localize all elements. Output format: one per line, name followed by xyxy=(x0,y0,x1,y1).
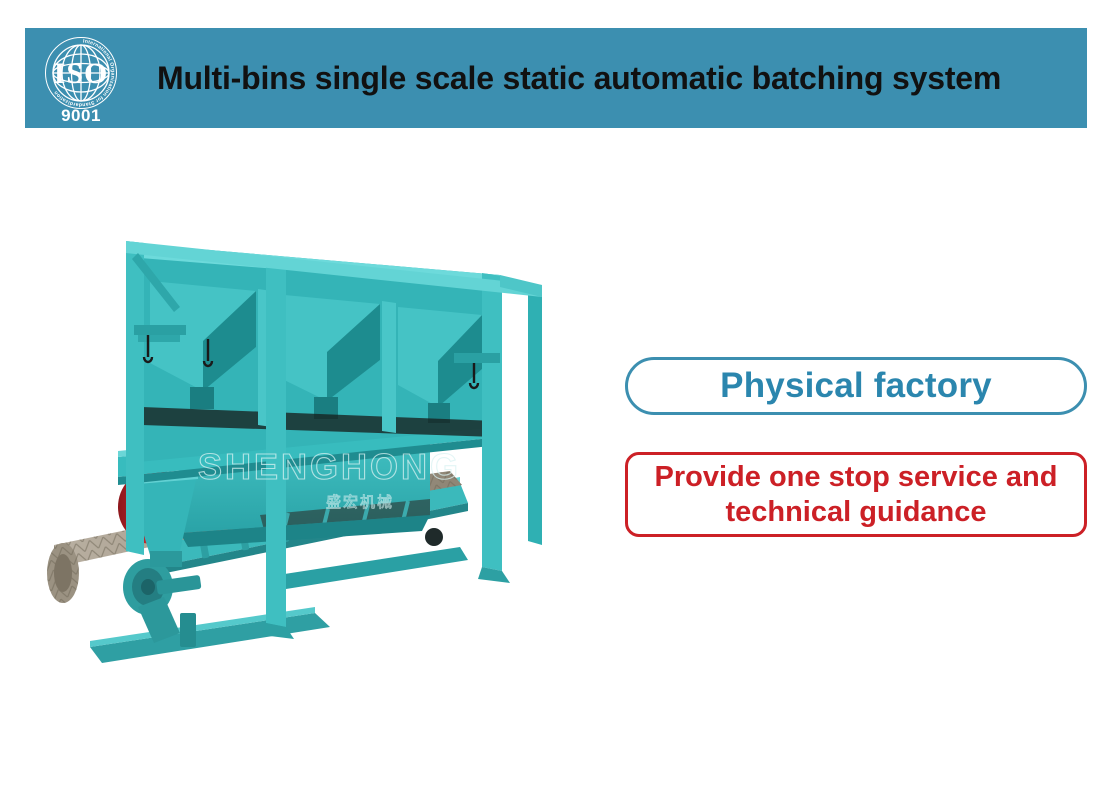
page-title: Multi-bins single scale static automatic… xyxy=(137,60,1087,97)
photo-watermark: SHENGHONG xyxy=(198,446,461,487)
callout-physical-factory-label: Physical factory xyxy=(720,366,992,406)
callout-one-stop-service: Provide one stop service and technical g… xyxy=(625,452,1087,537)
callout-physical-factory: Physical factory xyxy=(625,357,1087,415)
machine-photo: SHENGHONG 盛宏机械 xyxy=(30,215,610,675)
photo-watermark-sub: 盛宏机械 xyxy=(326,494,394,511)
header-band: International Organization for Standardi… xyxy=(25,28,1087,128)
svg-text:ISO: ISO xyxy=(54,57,109,90)
callout-line-2: technical guidance xyxy=(725,496,986,528)
callout-line-1: Provide one stop service and xyxy=(655,461,1058,493)
iso-certification-logo: International Organization for Standardi… xyxy=(25,28,137,128)
callout-one-stop-service-label: Provide one stop service and technical g… xyxy=(655,460,1058,530)
iso-standard-number: 9001 xyxy=(25,106,137,126)
batching-machine-illustration: SHENGHONG 盛宏机械 xyxy=(30,215,610,675)
